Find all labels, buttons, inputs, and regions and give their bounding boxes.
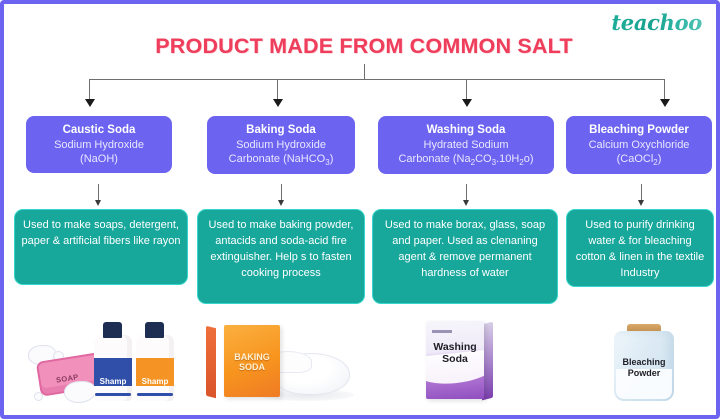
product-box-washing-soda[interactable]: Washing Soda Hydrated Sodium Carbonate (…: [378, 116, 554, 174]
branch-arrow-1: [85, 99, 95, 107]
product-box-caustic-soda[interactable]: Caustic Soda Sodium Hydroxide (NaOH): [26, 116, 172, 173]
bottle-base-stripe: [95, 393, 131, 396]
product-formula-washing-soda: Carbonate (Na2CO3.10H2o): [382, 153, 550, 168]
mid-connector-arrow-2: [278, 200, 284, 206]
product-box-baking-soda[interactable]: Baking Soda Sodium Hydroxide Carbonate (…: [207, 116, 355, 174]
washing-soda-box-label-line2: Soda: [442, 353, 468, 365]
illustration-soap-and-shampoo: SOAP Shamp Shamp: [22, 314, 192, 409]
product-formula-bleaching-powder: (CaOCl2): [570, 153, 708, 168]
branch-arrow-4: [660, 99, 670, 107]
jar-label-line2: Powder: [628, 368, 661, 378]
infographic-canvas: teachoo PRODUCT MADE FROM COMMON SALT Ca…: [0, 0, 720, 419]
illustration-baking-soda: BAKING SODA: [214, 314, 374, 409]
baking-soda-box-label-line1: BAKING: [234, 352, 270, 362]
product-name-bleaching-powder: Bleaching Powder: [570, 123, 708, 137]
jar-label-line1: Bleaching: [622, 357, 665, 367]
branch-drop-4: [664, 79, 665, 101]
product-formula-caustic-soda: (NaOH): [30, 153, 168, 167]
product-chemical-name-washing-soda: Hydrated Sodium: [382, 139, 550, 153]
uses-box-washing-soda[interactable]: Used to make borax, glass, soap and pape…: [372, 209, 558, 304]
product-name-caustic-soda: Caustic Soda: [30, 123, 168, 137]
bottle-base-stripe: [137, 393, 173, 396]
page-title: PRODUCT MADE FROM COMMON SALT: [4, 34, 720, 59]
product-box-bleaching-powder[interactable]: Bleaching Powder Calcium Oxychloride (Ca…: [566, 116, 712, 174]
mid-connector-arrow-4: [638, 200, 644, 206]
shampoo-bottle-orange-label: Shamp: [137, 377, 173, 386]
branch-arrow-2: [273, 99, 283, 107]
bubble-icon: [64, 381, 96, 403]
product-name-baking-soda: Baking Soda: [211, 123, 351, 137]
branch-arrow-3: [462, 99, 472, 107]
branch-drop-2: [277, 79, 278, 101]
uses-box-caustic-soda[interactable]: Used to make soaps, detergent, paper & a…: [14, 209, 188, 285]
washing-soda-box-label: Washing Soda: [428, 341, 482, 365]
product-chemical-name-caustic-soda: Sodium Hydroxide: [30, 139, 168, 153]
box-side-panel: [206, 326, 216, 398]
washing-soda-box-label-line1: Washing: [433, 341, 476, 353]
shampoo-bottle-blue-label: Shamp: [95, 377, 131, 386]
product-chemical-name-bleaching-powder: Calcium Oxychloride: [570, 139, 708, 153]
bottle-cap-icon: [145, 322, 164, 338]
teachoo-logo: teachoo: [611, 10, 702, 35]
mid-connector-arrow-1: [95, 200, 101, 206]
product-chemical-name-baking-soda: Sodium Hydroxide: [211, 139, 351, 153]
uses-box-bleaching-powder[interactable]: Used to purify drinking water & for blea…: [566, 209, 714, 287]
product-formula-baking-soda: Carbonate (NaHCO3): [211, 153, 351, 168]
shampoo-bottle-blue-icon: [94, 335, 132, 401]
product-name-washing-soda: Washing Soda: [382, 123, 550, 137]
mid-connector-arrow-3: [463, 200, 469, 206]
branch-drop-1: [89, 79, 90, 101]
baking-soda-box-label: BAKING SODA: [228, 353, 276, 373]
branch-drop-3: [466, 79, 467, 101]
bottle-cap-icon: [103, 322, 122, 338]
illustration-washing-soda: Washing Soda: [404, 314, 554, 409]
uses-box-baking-soda[interactable]: Used to make baking powder, antacids and…: [197, 209, 365, 304]
branch-bus-line: [89, 79, 664, 80]
title-connector-stub: [364, 64, 365, 79]
shampoo-bottle-orange-icon: [136, 335, 174, 401]
box-top-stripe: [432, 330, 452, 333]
baking-soda-box-label-line2: SODA: [239, 362, 265, 372]
jar-label: Bleaching Powder: [612, 357, 676, 380]
illustration-bleaching-powder: Bleaching Powder: [594, 314, 704, 409]
